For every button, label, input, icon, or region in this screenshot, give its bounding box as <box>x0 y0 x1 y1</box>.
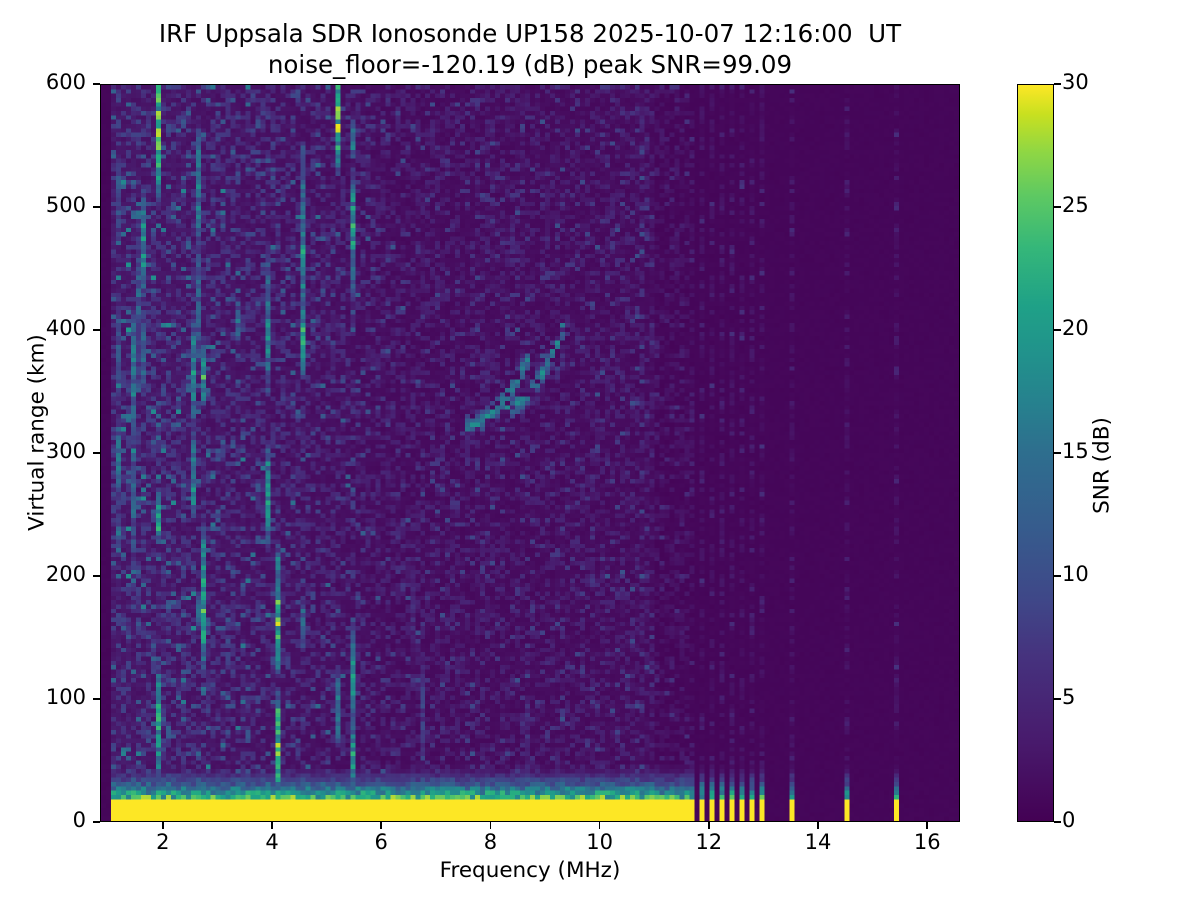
x-tick-mark <box>599 822 601 829</box>
x-axis-label: Frequency (MHz) <box>100 858 960 883</box>
colorbar-tick-label: 5 <box>1062 685 1075 709</box>
x-tick-label: 8 <box>450 830 530 854</box>
y-tick-mark <box>93 821 100 823</box>
x-tick-mark <box>380 822 382 829</box>
y-tick-mark <box>93 329 100 331</box>
x-tick-mark <box>926 822 928 829</box>
y-tick-mark <box>93 452 100 454</box>
x-tick-mark <box>271 822 273 829</box>
y-tick-label: 0 <box>0 808 86 832</box>
colorbar-tick-label: 10 <box>1062 562 1089 586</box>
y-tick-label: 500 <box>0 193 86 217</box>
colorbar-tick-label: 30 <box>1062 70 1089 94</box>
y-tick-mark <box>93 575 100 577</box>
y-tick-label: 200 <box>0 562 86 586</box>
x-tick-mark <box>490 822 492 829</box>
colorbar-tick-mark <box>1054 821 1061 823</box>
y-tick-mark <box>93 83 100 85</box>
x-tick-label: 4 <box>232 830 312 854</box>
ionogram-figure: IRF Uppsala SDR Ionosonde UP158 2025-10-… <box>0 0 1200 900</box>
colorbar-tick-mark <box>1054 698 1061 700</box>
x-tick-label: 14 <box>778 830 858 854</box>
y-tick-label: 400 <box>0 316 86 340</box>
x-tick-label: 2 <box>123 830 203 854</box>
x-tick-label: 12 <box>669 830 749 854</box>
y-tick-label: 600 <box>0 70 86 94</box>
x-tick-label: 16 <box>887 830 967 854</box>
x-tick-label: 6 <box>341 830 421 854</box>
colorbar-tick-mark <box>1054 452 1061 454</box>
y-tick-label: 300 <box>0 439 86 463</box>
colorbar-tick-mark <box>1054 83 1061 85</box>
ionogram-heatmap[interactable] <box>101 85 959 821</box>
colorbar-tick-mark <box>1054 206 1061 208</box>
y-axis-label: Virtual range (km) <box>25 153 50 713</box>
title-line-main: IRF Uppsala SDR Ionosonde UP158 2025-10-… <box>0 18 1060 49</box>
colorbar-tick-label: 0 <box>1062 808 1075 832</box>
colorbar-tick-label: 25 <box>1062 193 1089 217</box>
colorbar-tick-mark <box>1054 575 1061 577</box>
x-tick-mark <box>162 822 164 829</box>
y-tick-mark <box>93 698 100 700</box>
title-line-stats: noise_floor=-120.19 (dB) peak SNR=99.09 <box>0 49 1060 80</box>
x-tick-mark <box>708 822 710 829</box>
x-tick-label: 10 <box>560 830 640 854</box>
colorbar-tick-label: 15 <box>1062 439 1089 463</box>
y-tick-mark <box>93 206 100 208</box>
colorbar-tick-mark <box>1054 329 1061 331</box>
y-tick-label: 100 <box>0 685 86 709</box>
x-tick-mark <box>817 822 819 829</box>
colorbar-label: SNR (dB) <box>1090 186 1115 746</box>
colorbar-tick-label: 20 <box>1062 316 1089 340</box>
figure-title: IRF Uppsala SDR Ionosonde UP158 2025-10-… <box>0 18 1060 81</box>
snr-colorbar[interactable] <box>1017 84 1054 822</box>
ionogram-axes[interactable] <box>100 84 960 822</box>
